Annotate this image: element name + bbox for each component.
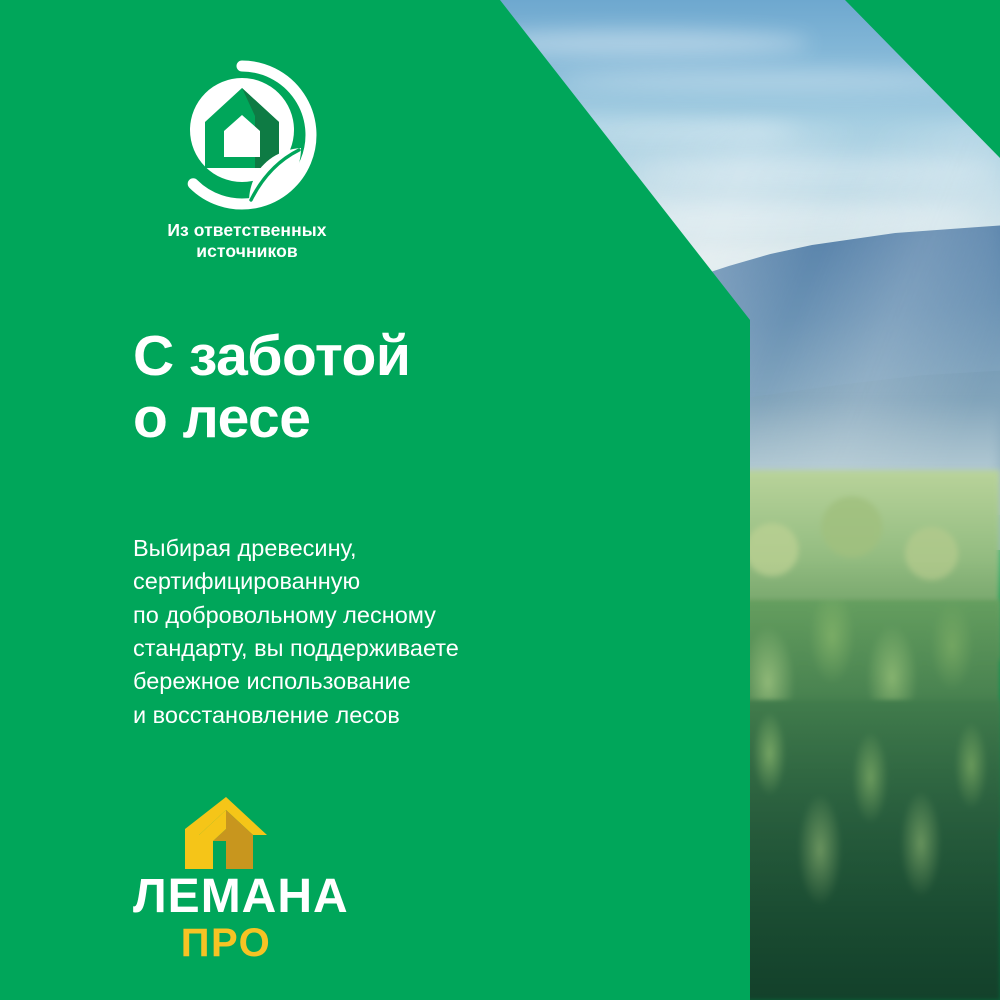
brand-sub: ПРО bbox=[133, 923, 319, 963]
lemana-house-icon bbox=[183, 795, 269, 871]
body-copy: Выбирая древесину, сертифицированную по … bbox=[133, 532, 459, 732]
brand-lockup: ЛЕМАНА ПРО bbox=[133, 795, 383, 963]
headline: С заботой о лесе bbox=[133, 326, 410, 449]
house-leaf-circle-icon bbox=[167, 60, 317, 210]
promo-banner: Из ответственных источников С заботой о … bbox=[0, 0, 1000, 1000]
content-layer: Из ответственных источников С заботой о … bbox=[0, 0, 1000, 1000]
certification-caption: Из ответственных источников bbox=[132, 220, 362, 263]
brand-name: ЛЕМАНА bbox=[133, 873, 319, 921]
certification-badge: Из ответственных источников bbox=[132, 60, 392, 263]
